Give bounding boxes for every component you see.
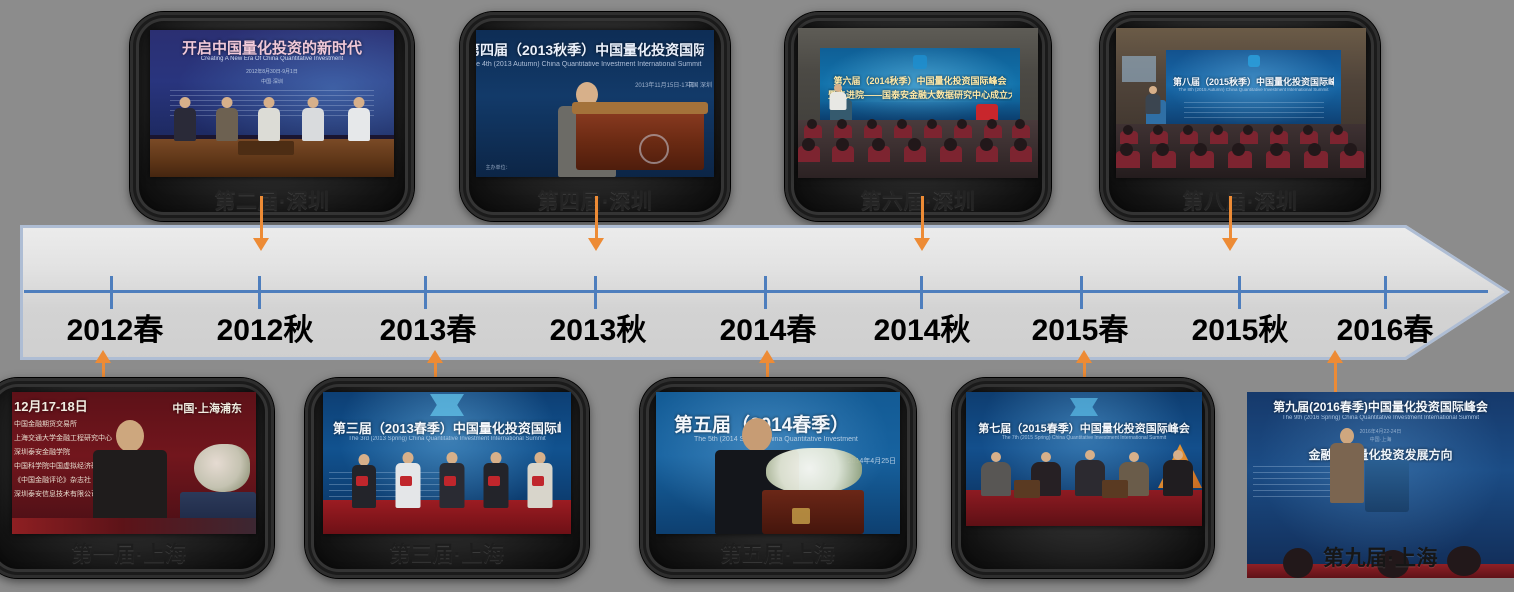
top-card-3-photo: 第六届（2014秋季）中国量化投资国际峰会 暨先进院——国泰安金融大数据研究中心… (798, 28, 1038, 178)
photo-banner-place: 中国·深圳 (160, 78, 385, 85)
top-card-1-photo: 开启中国量化投资的新时代 Creating A New Era Of China… (150, 30, 394, 177)
connector-top-4-arrowhead (1222, 238, 1238, 251)
bottom-card-4[interactable]: 第七届（2015春季）中国量化投资国际峰会 The 7th (2015 Spri… (952, 378, 1214, 578)
photo-banner-title: 第三届（2013春季）中国量化投资国际峰会 (333, 418, 561, 437)
connector-top-2-arrowhead (588, 238, 604, 251)
photo-person (300, 97, 326, 141)
bottom-card-4-photo: 第七届（2015春季）中国量化投资国际峰会 The 7th (2015 Spri… (966, 392, 1202, 526)
connector-bottom-4-arrowhead (1076, 350, 1092, 363)
timeline-label-8: 2015秋 (1180, 305, 1300, 349)
photo-banner-date: 2012年8月30日-9月1日 (160, 68, 385, 75)
photo-podium (1365, 460, 1409, 512)
timeline-infographic: 开启中国量化投资的新时代 Creating A New Era Of China… (0, 0, 1514, 592)
photo-person (214, 97, 240, 141)
photo-banner-subtitle: The 3rd (2013 Spring) China Quantitative… (333, 436, 561, 442)
photo-banner-subtitle: The 8th (2015 Autumn) China Quantitative… (1173, 87, 1334, 92)
connector-top-2 (595, 196, 598, 240)
photo-seat-row (1116, 126, 1366, 144)
photo-person (826, 84, 850, 110)
photo-screen-details (1184, 102, 1324, 122)
photo-podium (762, 490, 864, 534)
bottom-card-3-caption: 第五届·上海 (640, 538, 916, 568)
bottom-card-2-photo: 第三届（2013春季）中国量化投资国际峰会 The 3rd (2013 Spri… (323, 392, 571, 534)
top-card-2[interactable]: 第四届（2013秋季）中国量化投资国际峰会 The 4th (2013 Autu… (460, 12, 730, 221)
photo-award-plaque (400, 476, 412, 486)
timeline-label-3: 2013春 (368, 305, 488, 349)
photo-person (1160, 450, 1196, 496)
photo-banner-place: 中国·上海 (1258, 436, 1504, 443)
photo-podium-emblem (792, 508, 810, 524)
photo-banner-date: 2016年4月22-24日 (1258, 428, 1504, 435)
top-card-3[interactable]: 第六届（2014秋季）中国量化投资国际峰会 暨先进院——国泰安金融大数据研究中心… (785, 12, 1051, 221)
photo-banner-subtitle: 暨先进院——国泰安金融大数据研究中心成立大会 (828, 88, 1012, 101)
connector-bottom-2-arrowhead (427, 350, 443, 363)
photo-sponsor-block (1253, 466, 1337, 498)
photo-podium (576, 108, 704, 170)
top-card-1[interactable]: 开启中国量化投资的新时代 Creating A New Era Of China… (130, 12, 414, 221)
photo-banner-title: 第六届（2014秋季）中国量化投资国际峰会 (828, 74, 1012, 87)
timeline-label-1: 2012春 (55, 305, 175, 349)
connector-top-1-arrowhead (253, 238, 269, 251)
photo-logo-icon (913, 55, 927, 69)
photo-person (978, 452, 1014, 496)
photo-screen: 第八届（2015秋季）中国量化投资国际峰会 The 8th (2015 Autu… (1166, 50, 1341, 128)
bottom-card-3-photo: 第五届（2014春季） The 5th (2014 Spring) China … (656, 392, 900, 534)
photo-award-plaque (444, 476, 456, 486)
photo-podium-top (572, 102, 708, 114)
photo-banner-title: 第九届(2016春季)中国量化投资国际峰会 (1258, 398, 1504, 415)
photo-banner-place: 中国·上海浦东 (22, 400, 242, 416)
photo-banner-title: 第四届（2013秋季）中国量化投资国际峰会 (476, 40, 704, 60)
top-card-4[interactable]: 第八届（2015秋季）中国量化投资国际峰会 The 8th (2015 Autu… (1100, 12, 1380, 221)
connector-bottom-1-arrowhead (95, 350, 111, 363)
top-card-1-caption: 第二届·深圳 (130, 185, 414, 215)
timeline-label-7: 2015春 (1020, 305, 1140, 349)
photo-seat-row (798, 142, 1038, 162)
photo-banner-subtitle: The 9th (2016 Spring) China Quantitative… (1258, 415, 1504, 421)
photo-logo-strip (12, 518, 256, 534)
photo-flowers (194, 444, 250, 492)
photo-banner-title: 开启中国量化投资的新时代 (160, 37, 385, 58)
photo-podium-emblem (639, 134, 669, 164)
photo-banner-subtitle: The 4th (2013 Autumn) China Quantitative… (476, 61, 704, 68)
connector-top-3 (921, 196, 924, 240)
photo-table (238, 141, 294, 155)
bottom-card-5-caption: 第九届·上海 (1247, 542, 1514, 572)
connector-bottom-3-arrowhead (759, 350, 775, 363)
top-card-4-photo: 第八届（2015秋季）中国量化投资国际峰会 The 8th (2015 Autu… (1116, 28, 1366, 178)
photo-person (90, 420, 170, 534)
bottom-card-5[interactable]: 第九届(2016春季)中国量化投资国际峰会 The 9th (2016 Spri… (1247, 392, 1514, 578)
photo-logo-icon (1248, 55, 1260, 67)
timeline-label-4: 2013秋 (538, 305, 658, 349)
timeline-label-2: 2012秋 (205, 305, 325, 349)
photo-seat-row (1116, 146, 1366, 168)
bottom-card-1-caption: 第一届·上海 (0, 538, 274, 568)
photo-banner-subtitle: Creating A New Era Of China Quantitative… (160, 56, 385, 62)
photo-banner-title: 第七届（2015春季）中国量化投资国际峰会 (975, 420, 1192, 436)
photo-seat-row (798, 120, 1038, 138)
photo-award-plaque (356, 476, 368, 486)
photo-side-screen (1122, 56, 1156, 82)
bottom-card-5-photo: 第九届(2016春季)中国量化投资国际峰会 The 9th (2016 Spri… (1247, 392, 1514, 530)
bottom-card-2-caption: 第三届·上海 (305, 538, 589, 568)
connector-top-4 (1229, 196, 1232, 240)
photo-side-table (1102, 480, 1128, 498)
connector-bottom-5-arrowhead (1327, 350, 1343, 363)
photo-flowers (766, 448, 862, 494)
timeline-label-6: 2014秋 (862, 305, 982, 349)
connector-top-3-arrowhead (914, 238, 930, 251)
photo-award-plaque (488, 476, 500, 486)
connector-bottom-5 (1334, 360, 1337, 396)
bottom-card-3[interactable]: 第五届（2014春季） The 5th (2014 Spring) China … (640, 378, 916, 578)
timeline-label-9: 2016春 (1325, 305, 1445, 349)
bottom-card-1-photo: 12月17-18日 中国·上海浦东 中国金融期货交易所 上海交通大学金融工程研究… (12, 392, 256, 534)
photo-sponsor-line: 主办单位： (486, 164, 705, 171)
timeline-axis (24, 290, 1488, 293)
photo-award-plaque (532, 476, 544, 486)
photo-side-table (1014, 480, 1040, 498)
photo-person (346, 97, 372, 141)
top-card-3-caption: 第六届·深圳 (785, 185, 1051, 215)
bottom-card-2[interactable]: 第三届（2013春季）中国量化投资国际峰会 The 3rd (2013 Spri… (305, 378, 589, 578)
connector-top-1 (260, 196, 263, 240)
bottom-card-1[interactable]: 12月17-18日 中国·上海浦东 中国金融期货交易所 上海交通大学金融工程研究… (0, 378, 274, 578)
timeline-label-5: 2014春 (708, 305, 828, 349)
top-card-4-caption: 第八届·深圳 (1100, 185, 1380, 215)
top-card-2-photo: 第四届（2013秋季）中国量化投资国际峰会 The 4th (2013 Autu… (476, 30, 714, 177)
photo-banner-subtitle: The 7th (2015 Spring) China Quantitative… (975, 435, 1192, 441)
photo-person (256, 97, 282, 141)
photo-person (1327, 428, 1367, 514)
photo-person (1142, 86, 1164, 112)
photo-person (172, 97, 198, 141)
